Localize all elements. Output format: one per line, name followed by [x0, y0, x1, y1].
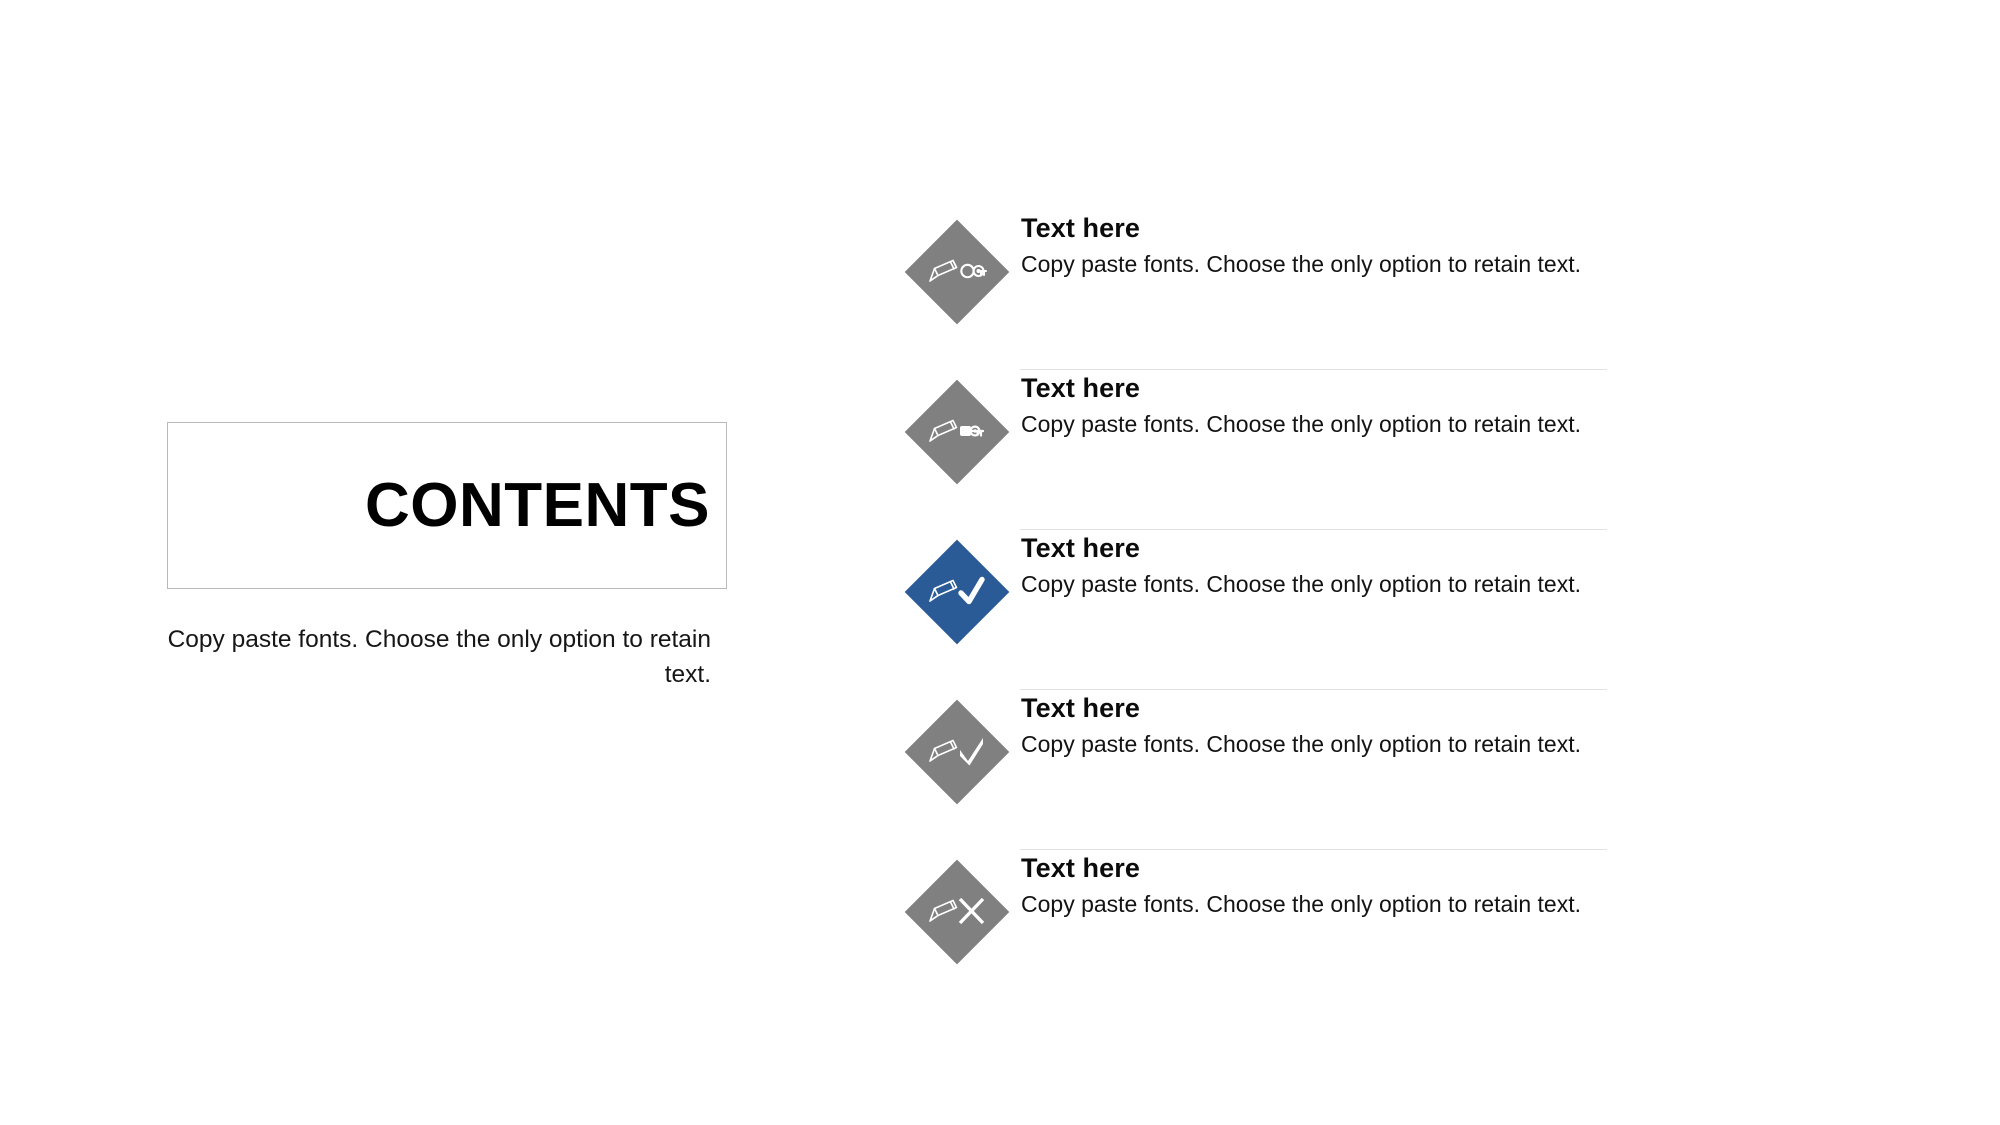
page-title: CONTENTS	[365, 473, 726, 538]
list-item[interactable]: Text here Copy paste fonts. Choose the o…	[905, 370, 1625, 530]
list-item-description: Copy paste fonts. Choose the only option…	[1021, 570, 1625, 600]
diamond-shape	[905, 380, 1010, 485]
diamond-shape	[905, 540, 1010, 645]
contents-left-panel: CONTENTS Copy paste fonts. Choose the on…	[167, 422, 727, 693]
list-item[interactable]: Text here Copy paste fonts. Choose the o…	[905, 210, 1625, 370]
list-item-heading: Text here	[1021, 692, 1625, 724]
list-item-description: Copy paste fonts. Choose the only option…	[1021, 890, 1625, 920]
list-item-icon-badge[interactable]	[905, 220, 1009, 324]
list-item[interactable]: Text here Copy paste fonts. Choose the o…	[905, 530, 1625, 690]
contents-title-box: CONTENTS	[167, 422, 727, 589]
diamond-shape	[905, 860, 1010, 965]
list-item-text: Text here Copy paste fonts. Choose the o…	[1009, 210, 1625, 280]
contents-list: Text here Copy paste fonts. Choose the o…	[905, 210, 1625, 1010]
list-item-description: Copy paste fonts. Choose the only option…	[1021, 730, 1625, 760]
slide-canvas: CONTENTS Copy paste fonts. Choose the on…	[0, 0, 2000, 1125]
list-item-icon-badge[interactable]	[905, 860, 1009, 964]
list-item[interactable]: Text here Copy paste fonts. Choose the o…	[905, 690, 1625, 850]
list-item[interactable]: Text here Copy paste fonts. Choose the o…	[905, 850, 1625, 1010]
list-item-heading: Text here	[1021, 852, 1625, 884]
list-item-description: Copy paste fonts. Choose the only option…	[1021, 410, 1625, 440]
diamond-shape	[905, 220, 1010, 325]
list-item-icon-badge[interactable]	[905, 540, 1009, 644]
list-item-heading: Text here	[1021, 212, 1625, 244]
list-item-icon-badge[interactable]	[905, 700, 1009, 804]
contents-subtitle: Copy paste fonts. Choose the only option…	[167, 623, 727, 693]
list-item-heading: Text here	[1021, 372, 1625, 404]
diamond-shape	[905, 700, 1010, 805]
list-item-heading: Text here	[1021, 532, 1625, 564]
list-item-icon-badge[interactable]	[905, 380, 1009, 484]
list-item-text: Text here Copy paste fonts. Choose the o…	[1009, 850, 1625, 920]
list-item-text: Text here Copy paste fonts. Choose the o…	[1009, 370, 1625, 440]
list-item-text: Text here Copy paste fonts. Choose the o…	[1009, 690, 1625, 760]
list-item-text: Text here Copy paste fonts. Choose the o…	[1009, 530, 1625, 600]
list-item-description: Copy paste fonts. Choose the only option…	[1021, 250, 1625, 280]
